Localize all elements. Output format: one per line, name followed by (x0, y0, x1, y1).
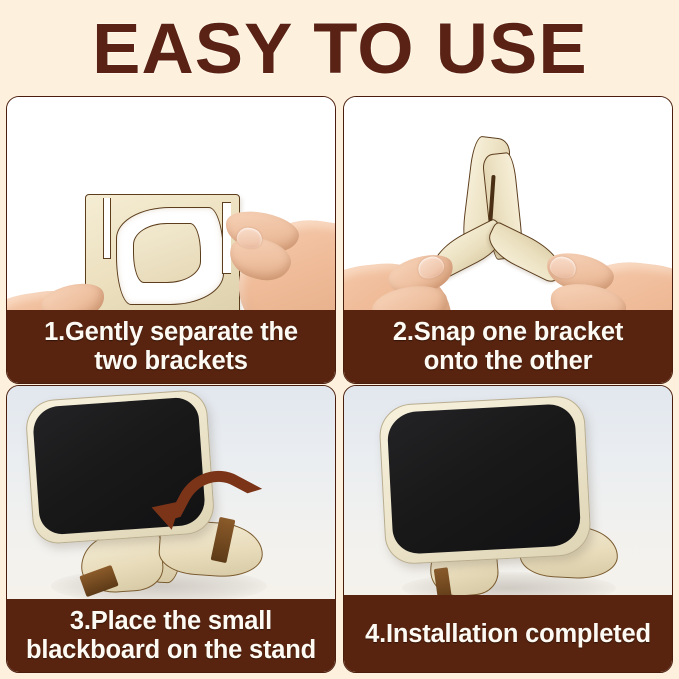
step-1-caption-line-1: 1.Gently separate the (44, 318, 298, 347)
bracket-inner-piece (133, 223, 201, 283)
step-panel-4: 4.Installation completed (343, 385, 673, 673)
step-2-caption: 2.Snap one bracket onto the other (343, 310, 673, 384)
step-3-caption-line-1: 3.Place the small (70, 607, 272, 636)
step-panel-1: 1.Gently separate the two brackets (6, 96, 336, 384)
steps-grid: 1.Gently separate the two brackets (6, 96, 673, 673)
step-panel-3: 3.Place the small blackboard on the stan… (6, 385, 336, 673)
step-panel-2: 2.Snap one bracket onto the other (343, 96, 673, 384)
page-title: EASY TO USE (0, 11, 679, 89)
step-3-caption: 3.Place the small blackboard on the stan… (6, 599, 336, 673)
easy-to-use-infographic: EASY TO USE (0, 0, 679, 679)
step-4-caption: 4.Installation completed (343, 595, 673, 673)
bracket-notch-right (222, 202, 231, 274)
step-3-caption-line-2: blackboard on the stand (26, 636, 316, 665)
step-1-caption-line-2: two brackets (94, 347, 248, 376)
step-2-caption-line-1: 2.Snap one bracket (393, 318, 623, 347)
step-2-caption-line-2: onto the other (424, 347, 593, 376)
page-title-text: EASY TO USE (92, 14, 588, 86)
step-1-caption: 1.Gently separate the two brackets (6, 310, 336, 384)
blackboard-surface (386, 403, 581, 555)
step-4-caption-line-1: 4.Installation completed (365, 620, 651, 649)
bracket-slot-left (103, 198, 111, 259)
